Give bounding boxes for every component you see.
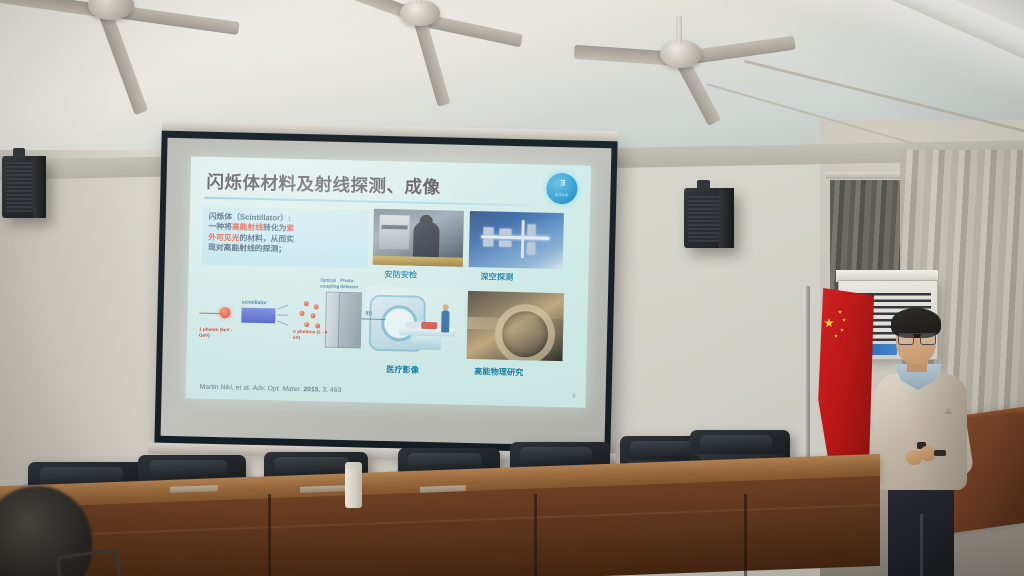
solar-panel	[499, 241, 511, 247]
wall-speaker-left	[2, 156, 46, 218]
high-energy-physics-photo	[466, 291, 564, 361]
table-seam	[268, 494, 271, 576]
ct-patient-blanket	[421, 322, 437, 329]
caption-security: 安防安检	[384, 268, 417, 281]
caption-space: 深空探测	[480, 270, 513, 283]
ct-technician	[441, 310, 450, 332]
speaker-bracket	[697, 180, 710, 190]
definition-text-c: 的材料，从而实	[239, 233, 294, 243]
definition-highlight-1: 高能射线	[232, 223, 263, 233]
solar-panel	[499, 229, 511, 235]
scintillator-schematic: scintillator	[192, 268, 366, 364]
table-seam	[534, 494, 537, 576]
security-inspection-photo	[373, 209, 464, 267]
fan-downrod	[676, 16, 682, 44]
logo-subtext: 南京大学	[555, 192, 569, 197]
ceiling-fan-left	[40, 0, 340, 84]
projection-screen[interactable]: 闪烁体材料及射线探测、成像 ᴲ 南京大学 闪烁体（Scintillator）: …	[154, 131, 617, 456]
projected-slide: 闪烁体材料及射线探测、成像 ᴲ 南京大学 闪烁体（Scintillator）: …	[185, 156, 591, 407]
screen-surface: 闪烁体材料及射线探测、成像 ᴲ 南京大学 闪烁体（Scintillator）: …	[161, 138, 612, 446]
wristwatch	[934, 450, 946, 456]
chair-highlight	[274, 457, 349, 474]
speaker-bracket	[13, 148, 24, 158]
fan-downrod	[416, 0, 422, 4]
xray-machine	[379, 215, 410, 250]
scintillator-label: scintillator	[242, 300, 267, 307]
solar-panel	[527, 242, 535, 254]
deep-space-photo	[469, 211, 564, 269]
glasses-icon	[898, 333, 936, 343]
solar-panel	[483, 239, 493, 246]
solar-panel	[483, 227, 493, 234]
ct-table-base	[411, 336, 441, 351]
speaker-side	[33, 156, 46, 218]
speaker-side	[719, 188, 734, 248]
definition-textbox: 闪烁体（Scintillator）: 一种将高能射线转化为紫 外可见光的材料，从…	[202, 207, 369, 269]
slide-page-number: 8	[572, 393, 575, 399]
speaker-grill	[6, 162, 34, 212]
caption-physics: 高能物理研究	[474, 365, 523, 378]
optical-coupling-label: Optical coupling	[320, 277, 336, 289]
definition-text-a: 一种将	[208, 222, 232, 232]
space-station-mast	[521, 220, 525, 258]
university-logo: ᴲ 南京大学	[546, 173, 578, 205]
photo-detector-block	[338, 292, 362, 349]
logo-mark: ᴲ	[560, 180, 564, 191]
scintillator-crystal	[241, 308, 275, 324]
ct-technician-head	[443, 304, 449, 310]
signal-arrow	[361, 318, 385, 320]
definition-text-b: 转化为	[263, 223, 287, 233]
photo-detector-label: Photo-detector	[340, 278, 357, 290]
solar-panel	[527, 224, 535, 236]
citation-authors: Martin Nikl, et al.	[200, 384, 251, 392]
presenter-sweater-shading	[875, 374, 967, 490]
slide-citation: Martin Nikl, et al. Adv. Opt. Mater. 201…	[200, 384, 342, 394]
speaker-grill	[688, 194, 720, 242]
screen-frame: 闪烁体材料及射线探测、成像 ᴲ 南京大学 闪烁体（Scintillator）: …	[154, 131, 617, 456]
incident-photon-icon	[219, 307, 230, 318]
output-photons-label: n photons (2 - 4 eV)	[293, 329, 333, 341]
chair-highlight	[520, 447, 592, 463]
citation-journal: Adv. Opt. Mater.	[253, 385, 302, 393]
xray-machine-slot	[382, 225, 408, 230]
caption-medical: 医疗影像	[386, 363, 419, 376]
ceiling-fan-right	[560, 0, 890, 106]
thermos-cap[interactable]	[345, 462, 362, 469]
chair-highlight	[149, 460, 227, 477]
wall-speaker-right	[684, 188, 734, 248]
medical-ct-illustration	[364, 287, 464, 361]
white-thermos-bottle[interactable]	[345, 466, 362, 508]
definition-highlight-3: 外可见光	[208, 232, 239, 242]
photo-floor-stripe	[373, 256, 463, 267]
accelerator-ring	[494, 304, 555, 362]
presentation-scene: 闪烁体材料及射线探测、成像 ᴲ 南京大学 闪烁体（Scintillator）: …	[0, 0, 1024, 576]
title-underline	[204, 197, 534, 207]
incident-ray	[199, 313, 221, 315]
definition-term: 闪烁体（Scintillator）:	[209, 212, 291, 223]
slide-title: 闪烁体材料及射线探测、成像	[206, 169, 441, 200]
citation-volume-page: , 3, 463	[318, 386, 341, 394]
input-photon-label: 1 photon (keV - GeV)	[199, 327, 239, 339]
definition-highlight-2: 紫	[286, 224, 294, 233]
chair-highlight	[700, 435, 772, 451]
citation-year: 2015	[303, 386, 318, 393]
emitted-photons	[297, 301, 324, 330]
definition-text-d: 现对高能射线的探测；	[208, 243, 286, 254]
presenter-trouser-seam	[920, 514, 923, 576]
signal-label: I(t)	[365, 311, 372, 317]
chair-highlight	[408, 453, 481, 469]
table-seam	[744, 494, 747, 576]
fan-hub	[660, 40, 702, 68]
